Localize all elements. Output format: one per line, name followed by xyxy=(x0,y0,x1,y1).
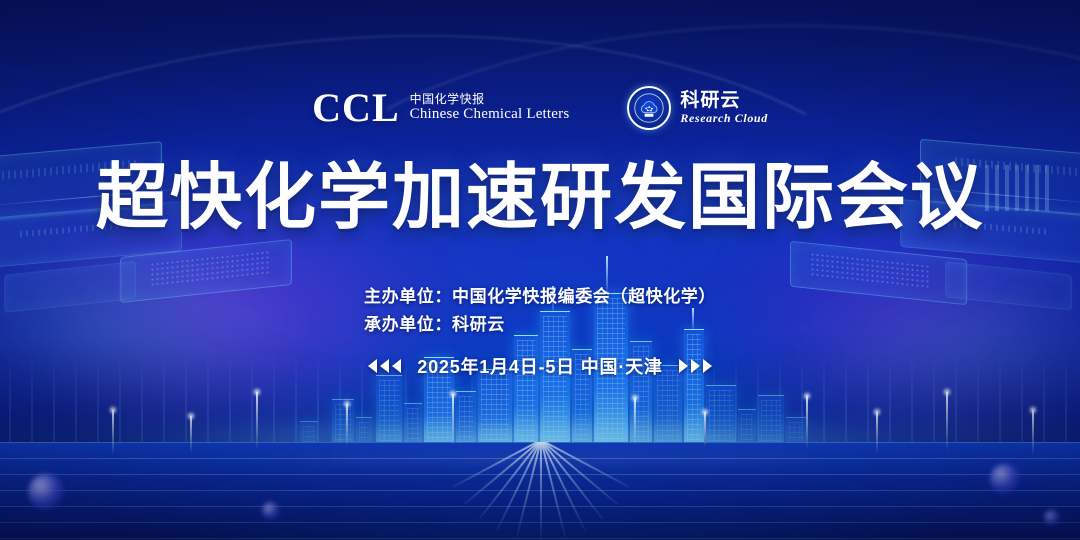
page-title: 超快化学加速研发国际会议 xyxy=(0,160,1080,238)
triangle-right-icon xyxy=(679,359,712,373)
organizer-coorganizer-line: 承办单位：科研云 xyxy=(364,311,716,339)
logo-row: CCL 中国化学快报 Chinese Chemical Letters xyxy=(0,86,1080,130)
triangle-left-icon xyxy=(368,359,401,373)
cloud-network-badge-icon xyxy=(627,86,671,130)
ccl-chinese-name: 中国化学快报 xyxy=(410,92,570,106)
research-cloud-logo: 科研云 Research Cloud xyxy=(627,86,767,130)
conference-banner: CCL 中国化学快报 Chinese Chemical Letters xyxy=(0,0,1080,540)
research-cloud-logo-text: 科研云 Research Cloud xyxy=(680,91,767,125)
ccl-logo: CCL 中国化学快报 Chinese Chemical Letters xyxy=(312,88,569,128)
organizer-block: 主办单位：中国化学快报编委会（超快化学） 承办单位：科研云 xyxy=(0,283,1080,338)
organizer-lines: 主办单位：中国化学快报编委会（超快化学） 承办单位：科研云 xyxy=(364,283,716,338)
banner-content: CCL 中国化学快报 Chinese Chemical Letters xyxy=(0,0,1080,540)
organizer-host-line: 主办单位：中国化学快报编委会（超快化学） xyxy=(364,283,716,311)
ccl-wordmark-icon: CCL xyxy=(312,88,399,128)
event-date-location: 2025年1月4日-5日 中国·天津 xyxy=(417,353,662,379)
research-cloud-chinese-name: 科研云 xyxy=(680,91,767,112)
ccl-logo-text: 中国化学快报 Chinese Chemical Letters xyxy=(410,92,570,124)
research-cloud-english-name: Research Cloud xyxy=(680,112,767,125)
event-date-row: 2025年1月4日-5日 中国·天津 xyxy=(0,353,1080,379)
ccl-english-name: Chinese Chemical Letters xyxy=(410,106,570,124)
